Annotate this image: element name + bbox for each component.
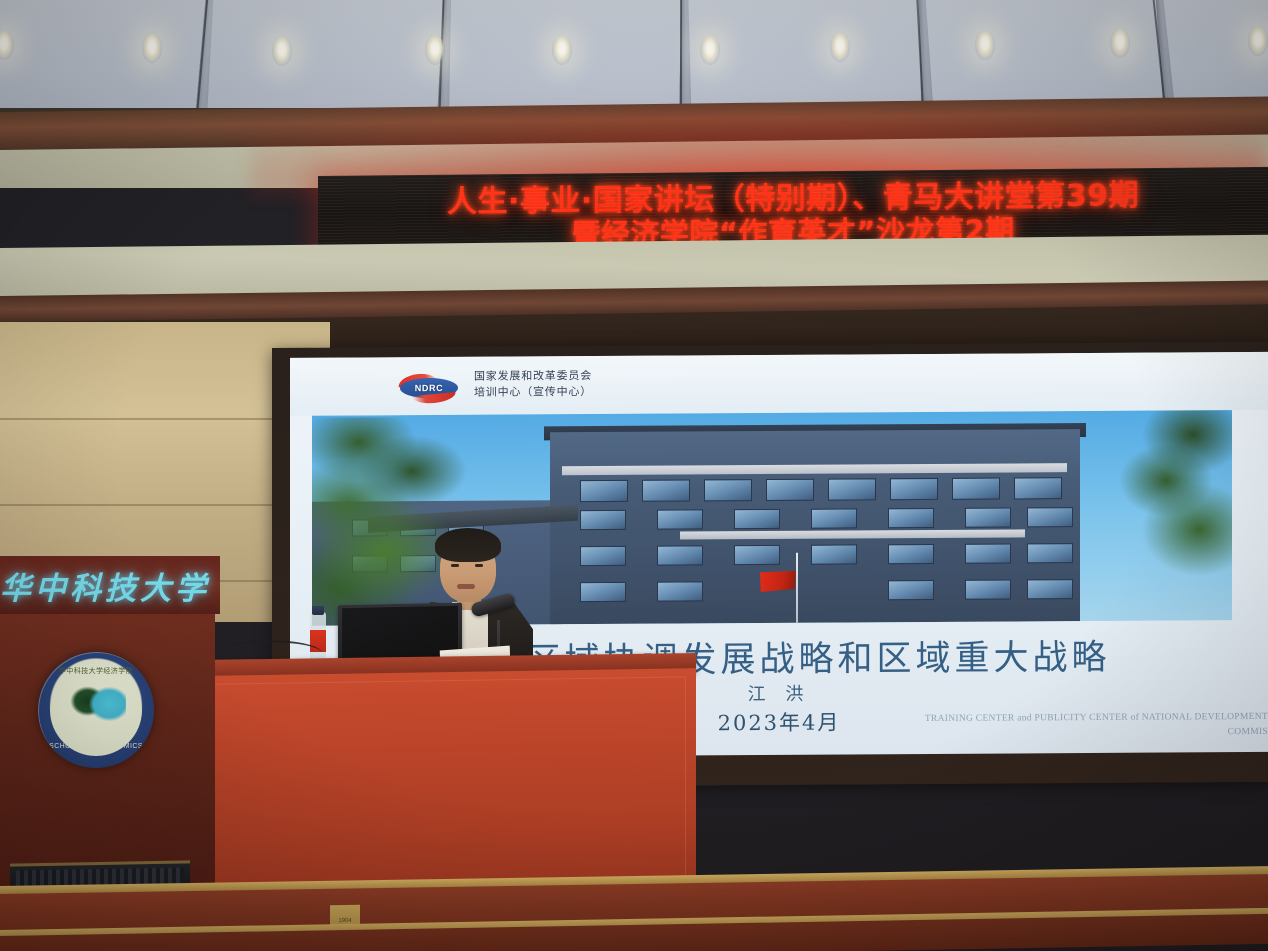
slide-english-subtitle: TRAINING CENTER and PUBLICITY CENTER of … [848,710,1268,742]
ndrc-logo-icon: NDRC [396,373,462,403]
ceiling-downlight [975,30,995,60]
ceiling-downlight [425,35,445,65]
emblem-bottom-text: SCHOOL OF ECONOMICS HUST [38,743,154,757]
ceiling-downlight [1110,28,1130,58]
emblem-top-text: 华中科技大学经济学院 [38,666,154,676]
presenter-hair [435,528,501,562]
tree-foliage-right [1094,410,1232,595]
ceiling-downlight [552,35,572,65]
ceiling-downlight [830,32,850,62]
slide-org-line-1: 国家发展和改革委员会 [474,368,592,385]
cable [212,638,323,670]
venue-sign-text: 华中科技大学 [0,563,210,608]
ceiling-downlight [272,36,292,66]
slide-english-line-1: TRAINING CENTER and PUBLICITY CENTER of … [848,710,1268,727]
bottle-cap [312,606,324,615]
ceiling-downlight [1248,26,1268,56]
slide-org-line-2: 培训中心（宣传中心） [474,384,592,401]
ceiling-downlight [700,35,720,65]
ndrc-logo-text: NDRC [396,373,462,403]
school-of-economics-emblem: 华中科技大学经济学院 SCHOOL OF ECONOMICS HUST [38,652,154,768]
speaker-table-front [196,668,696,902]
slide-english-line-2: COMMIS [848,725,1268,742]
ceiling-downlight [142,33,162,63]
venue-sign: 华中科技大学 [0,556,220,614]
lecture-hall-photo: 人生·事业·国家讲坛（特别期）、青马大讲堂第39期 暨经济学院“作育英才”沙龙第… [0,0,1268,951]
chinese-flag [760,571,796,592]
slide-organization: 国家发展和改革委员会 培训中心（宣传中心） [474,368,592,401]
